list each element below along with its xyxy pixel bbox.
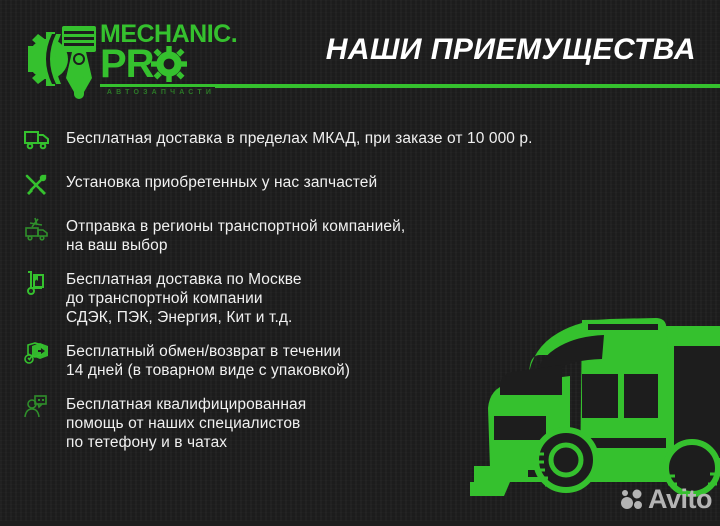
list-item-line: на ваш выбор [66, 236, 405, 255]
list-item-line: 14 дней (в товарном виде с упаковкой) [66, 361, 350, 380]
list-item-line: по тетефону и в чатах [66, 433, 306, 452]
list-item-text: Бесплатная квалифицированная помощь от н… [66, 394, 306, 452]
return-box-icon [24, 341, 66, 371]
advantages-poster: MECHANIC. PR [0, 0, 720, 521]
list-item: Отправка в регионы транспортной компание… [24, 216, 720, 255]
list-item-line: Бесплатная доставка по Москве [66, 270, 302, 289]
list-item-line: СДЭК, ПЭК, Энергия, Кит и т.д. [66, 308, 302, 327]
logo-word-pr: PR [100, 46, 154, 82]
list-item-line: Бесплатная доставка в пределах МКАД, при… [66, 129, 533, 148]
list-item-line: Установка приобретенных у нас запчастей [66, 173, 377, 192]
delivery-truck-icon [24, 128, 66, 158]
list-item-line: помощь от наших специалистов [66, 414, 306, 433]
logo-gear-o-icon [151, 46, 187, 82]
support-agent-icon [24, 394, 66, 424]
list-item-text: Бесплатная доставка в пределах МКАД, при… [66, 128, 533, 148]
list-item-text: Отправка в регионы транспортной компание… [66, 216, 405, 255]
list-item-line: Бесплатная квалифицированная [66, 395, 306, 414]
list-item-text: Установка приобретенных у нас запчастей [66, 172, 377, 192]
list-item-text: Бесплатная доставка по Москве до транспо… [66, 269, 302, 327]
regional-shipping-icon [24, 216, 66, 246]
list-item-text: Бесплатный обмен/возврат в течении 14 дн… [66, 341, 350, 380]
list-item: Установка приобретенных у нас запчастей [24, 172, 720, 202]
page-title: НАШИ ПРИЕМУЩЕСТВА [326, 33, 696, 67]
list-item-line: до транспортной компании [66, 289, 302, 308]
avito-dots-icon [620, 489, 644, 511]
list-item-line: Бесплатный обмен/возврат в течении [66, 342, 350, 361]
brand-logo: MECHANIC. PR [22, 16, 222, 102]
logo-word-pro: PR [100, 46, 237, 82]
title-underline-rule [215, 84, 720, 88]
piston-gear-logo-icon [22, 16, 104, 100]
avito-wordmark: Avito [648, 486, 712, 513]
list-item: Бесплатная доставка в пределах МКАД, при… [24, 128, 720, 158]
list-item-line: Отправка в регионы транспортной компание… [66, 217, 405, 236]
wrench-screwdriver-icon [24, 172, 66, 202]
avito-watermark: Avito [620, 486, 712, 513]
hand-truck-icon [24, 269, 66, 299]
